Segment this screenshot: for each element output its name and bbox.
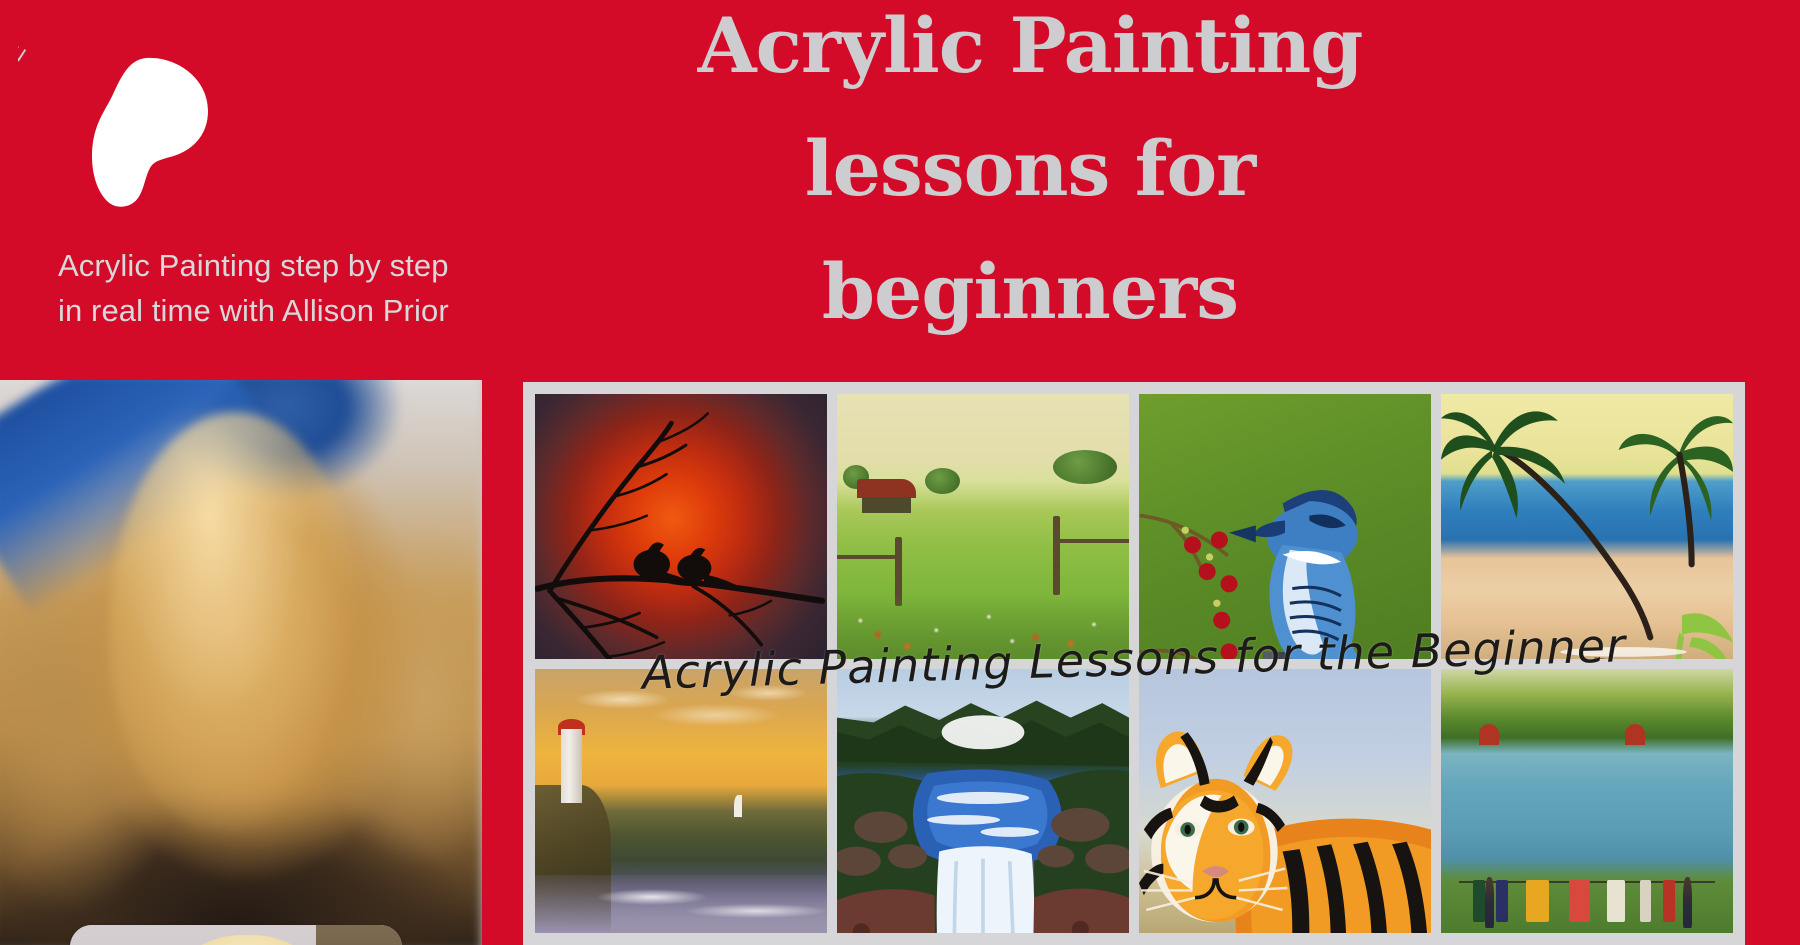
channel-subtitle: Acrylic Painting step by step in real ti… [58, 244, 528, 334]
fence-post [1053, 516, 1060, 595]
laundry-item [1640, 880, 1652, 922]
waterfall-icon [837, 669, 1129, 934]
blue-jay-on-post-art [1139, 394, 1431, 659]
channel-subtitle-line1: Acrylic Painting step by step [58, 244, 528, 289]
fence-rail [837, 555, 901, 559]
laundry-item [1569, 880, 1589, 922]
artwork-cell[interactable] [837, 394, 1129, 659]
fence-rail [1056, 539, 1129, 543]
presenter-inset-thumbnail[interactable] [70, 925, 402, 945]
sailboat [734, 795, 742, 817]
page-title-line3: beginners [640, 230, 1420, 353]
page-title: Acrylic Painting lessons for beginners [640, 0, 1420, 353]
artwork-cell[interactable] [1139, 669, 1431, 934]
lakeside-hut [1625, 724, 1645, 745]
artwork-gallery: Acrylic Painting Lessons for the Beginne… [523, 382, 1745, 945]
lakeside-hut [1479, 724, 1499, 745]
palm-trees-icon [1441, 394, 1733, 659]
branch-and-birds-icon [535, 394, 827, 659]
meadow-tree [925, 468, 960, 494]
channel-subtitle-line2: in real time with Allison Prior [58, 289, 528, 334]
artwork-cell[interactable] [1441, 669, 1733, 934]
page-title-line1: Acrylic Painting [640, 0, 1420, 107]
barn-wall [862, 497, 911, 513]
meadow-tree [1053, 450, 1117, 484]
background-hair-sheen [110, 412, 360, 832]
channel-logo[interactable]: YOUTUBE [18, 22, 228, 192]
ocean-surf [535, 875, 827, 933]
artwork-cell[interactable] [1139, 394, 1431, 659]
tiger-icon [1139, 669, 1431, 934]
tiger-portrait-art [1139, 669, 1431, 934]
lakeside-person [1485, 877, 1494, 927]
paint-palette-icon [84, 56, 210, 208]
countryside-meadow-barn-art [837, 394, 1129, 659]
mountain-waterfall-art [837, 669, 1129, 934]
inset-room-right-wall [316, 925, 402, 945]
birds-on-branch-sunset-art [535, 394, 827, 659]
lakeside-person [1683, 877, 1692, 927]
lake-with-laundry-art [1441, 669, 1733, 934]
artwork-cell[interactable] [535, 669, 827, 934]
meadow-barn [857, 479, 915, 513]
artwork-cell[interactable] [837, 669, 1129, 934]
palm-tree-beach-art [1441, 394, 1733, 659]
presenter-video-background [0, 380, 482, 945]
laundry-item [1496, 880, 1508, 922]
artwork-cell[interactable] [1441, 394, 1733, 659]
laundry-item [1607, 880, 1625, 922]
lighthouse-tower [561, 729, 581, 803]
laundry-item [1663, 880, 1675, 922]
artwork-cell[interactable] [535, 394, 827, 659]
meadow-flowers [837, 595, 1129, 658]
blue-jay-icon [1139, 394, 1431, 659]
artwork-grid [535, 394, 1733, 933]
logo-ring-label: YOUTUBE [18, 36, 32, 179]
laundry-item [1526, 880, 1549, 922]
page-title-line2: lessons for [640, 107, 1420, 230]
laundry-item [1473, 880, 1485, 922]
lighthouse-sunset-art [535, 669, 827, 934]
barn-roof [857, 479, 915, 498]
presenter-video-panel[interactable] [0, 380, 482, 945]
